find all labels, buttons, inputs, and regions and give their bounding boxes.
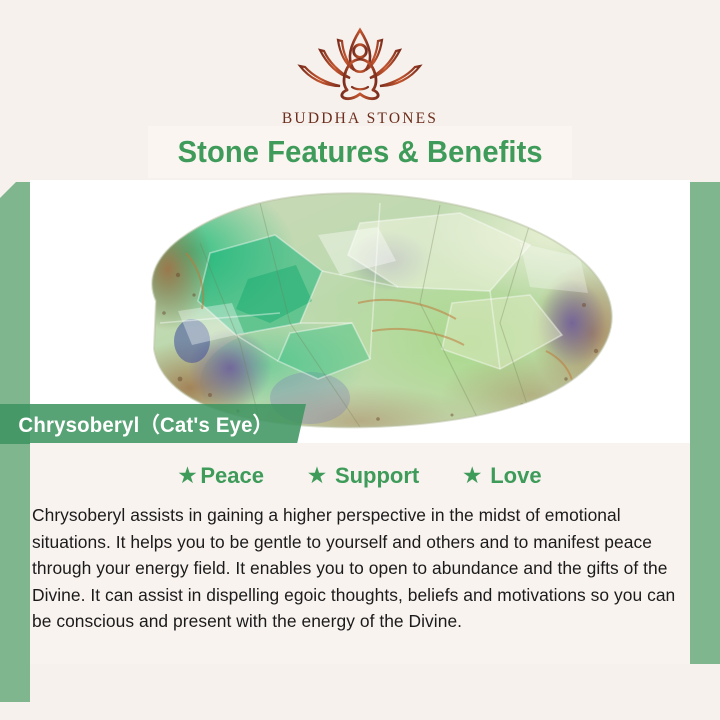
stone-info-card: BUDDHA STONES Stone Features & Benefits — [0, 0, 720, 720]
benefit-label: Support — [335, 463, 419, 489]
benefit-love: ★ Love — [463, 463, 541, 489]
benefit-peace: ★ Peace — [178, 463, 264, 489]
stone-name-label: Chrysoberyl（Cat's Eye） — [0, 404, 306, 444]
stone-description: Chrysoberyl assists in gaining a higher … — [32, 502, 688, 635]
page-title: Stone Features & Benefits — [177, 134, 542, 170]
stone-name-text: Chrysoberyl（Cat's Eye） — [0, 409, 273, 439]
card-header: BUDDHA STONES Stone Features & Benefits — [0, 0, 720, 182]
benefits-row: ★ Peace ★ Support ★ Love — [30, 463, 690, 489]
benefit-support: ★ Support — [308, 463, 419, 489]
benefit-label: Love — [490, 463, 541, 489]
title-banner: Stone Features & Benefits — [148, 126, 572, 178]
lotus-meditation-icon — [284, 24, 436, 107]
stone-photo — [30, 180, 690, 443]
star-icon: ★ — [463, 466, 481, 486]
stone-specimen-image — [60, 183, 660, 441]
star-icon: ★ — [308, 466, 326, 486]
benefit-label: Peace — [200, 463, 264, 489]
star-icon: ★ — [178, 466, 196, 486]
panel-bottom-fill — [30, 664, 690, 720]
brand-logo: BUDDHA STONES — [0, 24, 720, 128]
content-panel: ★ Peace ★ Support ★ Love Chrysoberyl ass… — [30, 443, 690, 664]
